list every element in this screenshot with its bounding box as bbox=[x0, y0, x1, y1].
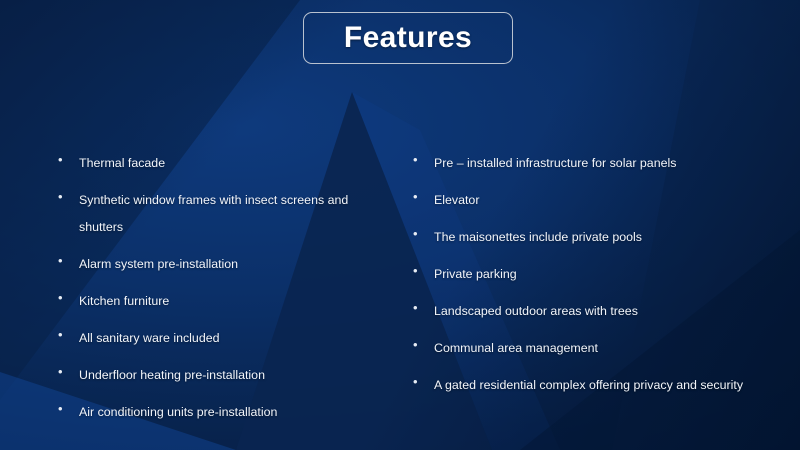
list-item: • Air conditioning units pre-installatio… bbox=[58, 399, 388, 426]
list-item-label: Kitchen furniture bbox=[79, 288, 388, 315]
list-item: • A gated residential complex offering p… bbox=[413, 372, 748, 399]
list-item: • Pre – installed infrastructure for sol… bbox=[413, 150, 748, 177]
bullet-icon: • bbox=[58, 362, 79, 380]
title-box: Features bbox=[303, 12, 513, 64]
list-item-label: Alarm system pre-installation bbox=[79, 251, 388, 278]
list-item: • Thermal facade bbox=[58, 150, 388, 177]
list-item: • Underfloor heating pre-installation bbox=[58, 362, 388, 389]
list-item-label: Communal area management bbox=[434, 335, 748, 362]
bullet-icon: • bbox=[413, 187, 434, 205]
bullet-icon: • bbox=[58, 288, 79, 306]
page-title: Features bbox=[344, 21, 472, 55]
list-item-label: Air conditioning units pre-installation bbox=[79, 399, 388, 426]
bullet-icon: • bbox=[413, 150, 434, 168]
list-item: • The maisonettes include private pools bbox=[413, 224, 748, 251]
list-item-label: Private parking bbox=[434, 261, 748, 288]
list-item: • Alarm system pre-installation bbox=[58, 251, 388, 278]
list-item-label: The maisonettes include private pools bbox=[434, 224, 748, 251]
list-item: • Kitchen furniture bbox=[58, 288, 388, 315]
list-item-label: All sanitary ware included bbox=[79, 325, 388, 352]
features-column-right: • Pre – installed infrastructure for sol… bbox=[413, 150, 748, 409]
bullet-icon: • bbox=[58, 251, 79, 269]
bullet-icon: • bbox=[58, 325, 79, 343]
features-column-left: • Thermal facade • Synthetic window fram… bbox=[58, 150, 388, 436]
list-item: • Private parking bbox=[413, 261, 748, 288]
list-item-label: Thermal facade bbox=[79, 150, 388, 177]
bullet-icon: • bbox=[58, 187, 79, 205]
bullet-icon: • bbox=[413, 335, 434, 353]
list-item-label: Landscaped outdoor areas with trees bbox=[434, 298, 748, 325]
list-item-label: Pre – installed infrastructure for solar… bbox=[434, 150, 748, 177]
bullet-icon: • bbox=[413, 298, 434, 316]
list-item-label: A gated residential complex offering pri… bbox=[434, 372, 748, 399]
list-item: • Elevator bbox=[413, 187, 748, 214]
bullet-icon: • bbox=[413, 372, 434, 390]
list-item-label: Underfloor heating pre-installation bbox=[79, 362, 388, 389]
list-item-label: Elevator bbox=[434, 187, 748, 214]
slide-canvas: Features • Thermal facade • Synthetic wi… bbox=[0, 0, 800, 450]
list-item: • All sanitary ware included bbox=[58, 325, 388, 352]
list-item: • Synthetic window frames with insect sc… bbox=[58, 187, 388, 241]
bullet-icon: • bbox=[58, 150, 79, 168]
bullet-icon: • bbox=[413, 261, 434, 279]
bullet-icon: • bbox=[58, 399, 79, 417]
list-item-label: Synthetic window frames with insect scre… bbox=[79, 187, 388, 241]
list-item: • Communal area management bbox=[413, 335, 748, 362]
list-item: • Landscaped outdoor areas with trees bbox=[413, 298, 748, 325]
bullet-icon: • bbox=[413, 224, 434, 242]
